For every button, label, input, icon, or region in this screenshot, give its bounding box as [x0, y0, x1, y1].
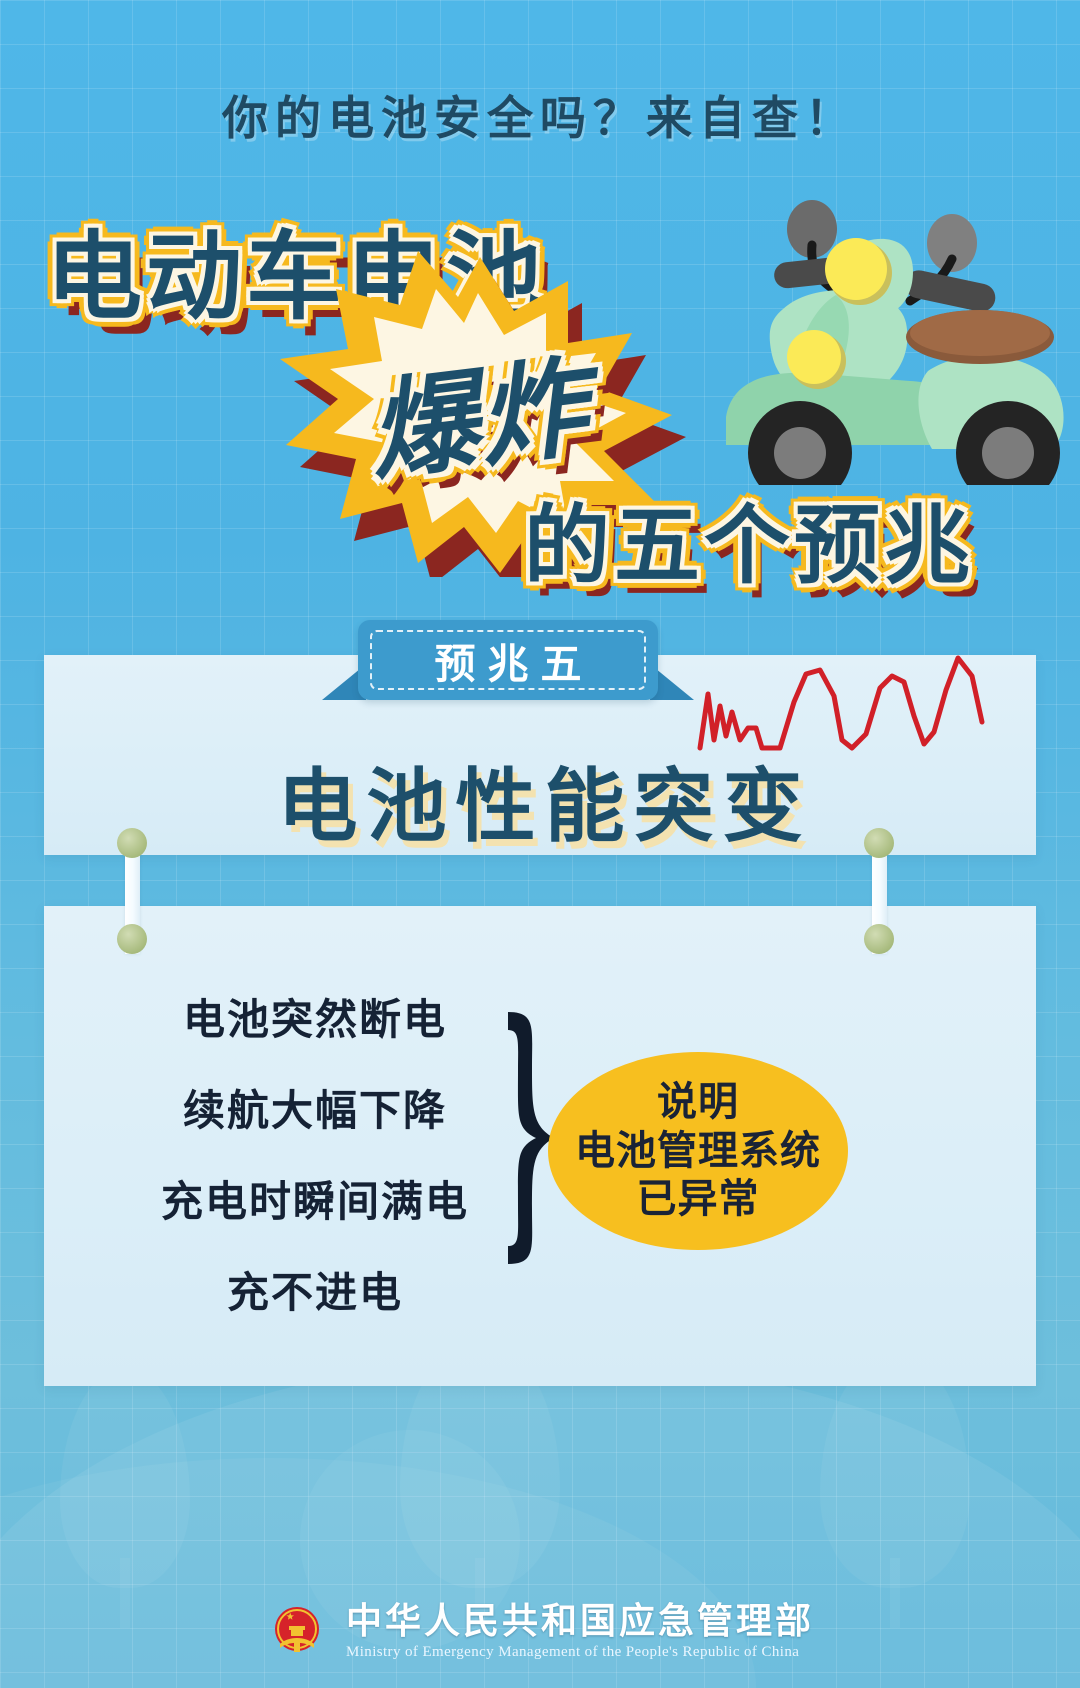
footer-agency-cn: 中华人民共和国应急管理部: [346, 1601, 814, 1641]
footer: 中华人民共和国应急管理部 Ministry of Emergency Manag…: [0, 1588, 1080, 1674]
strapline: 你的电池安全吗？来自查！: [0, 82, 1080, 148]
symptom-list: 电池突然断电 续航大幅下降 充电时瞬间满电 充不进电: [150, 1000, 480, 1315]
performance-spark-line: [690, 636, 990, 751]
list-item: 电池突然断电: [183, 1000, 447, 1042]
prognostic-badge: 预兆五: [358, 620, 658, 700]
conclusion-line: 说明: [657, 1078, 739, 1127]
badge-body: 预兆五: [358, 620, 658, 700]
eyelet-left-top: [117, 828, 147, 858]
footer-agency-en: Ministry of Emergency Management of the …: [346, 1644, 799, 1661]
badge-label: 预兆五: [358, 620, 658, 700]
poster-root: 你的电池安全吗？来自查！ 电动车电池 爆炸 的五个预兆: [0, 0, 1080, 1688]
list-item: 续航大幅下降: [183, 1091, 447, 1133]
scooter-illustration: [660, 185, 1080, 485]
conclusion-bubble: 说明 电池管理系统 已异常: [548, 1052, 848, 1250]
national-emblem-icon: [266, 1600, 328, 1662]
list-item: 充电时瞬间满电: [161, 1182, 469, 1224]
list-item: 充不进电: [227, 1273, 403, 1315]
conclusion-line: 已异常: [637, 1175, 760, 1224]
hero-line-3: 的五个预兆: [524, 475, 974, 600]
eyelet-right-top: [864, 828, 894, 858]
eyelet-left-bottom: [117, 924, 147, 954]
footer-text-block: 中华人民共和国应急管理部 Ministry of Emergency Manag…: [346, 1601, 814, 1661]
conclusion-line: 电池管理系统: [575, 1127, 821, 1176]
eyelet-right-bottom: [864, 924, 894, 954]
